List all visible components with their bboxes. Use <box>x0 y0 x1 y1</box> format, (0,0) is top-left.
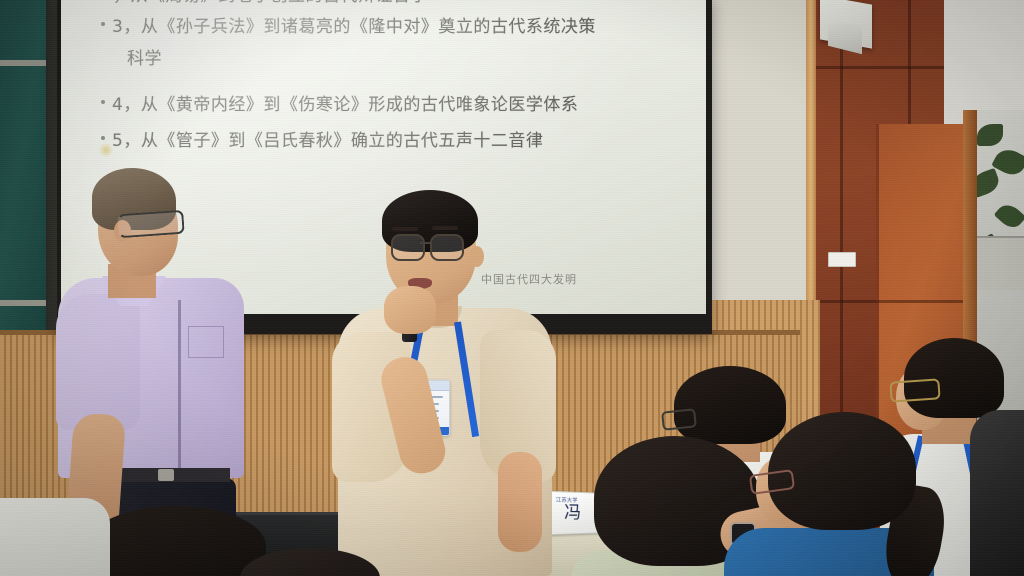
slide-bullet-5: 5，从《管子》到《吕氏春秋》确立的古代五声十二音律 <box>101 130 543 153</box>
bullet-dot-icon <box>101 22 105 26</box>
left-man-shirt-placket <box>178 300 181 470</box>
foreground-shoulder-body <box>0 498 110 576</box>
eyeglasses-icon <box>661 408 697 430</box>
audience-foreground-head-left <box>86 506 266 576</box>
speaker-eyebrow-left <box>392 227 418 231</box>
bullet-dot-icon <box>101 100 105 104</box>
speaker-ear <box>470 246 484 267</box>
door-rail-seam <box>876 300 968 303</box>
audience-foreground-shoulder <box>0 498 110 576</box>
left-man-sleeve <box>56 294 140 430</box>
audience-right-hair <box>904 338 1004 418</box>
foreground-head-hair <box>240 548 380 576</box>
slide-bullet-2-text: ，从《周易》到老子创立的古代辩证哲学 <box>113 0 428 6</box>
name-card-name: 冯 <box>564 505 581 523</box>
eyeglasses-icon <box>430 234 464 261</box>
lecture-hall-photo: ，从《周易》到老子创立的古代辩证哲学 3，从《孙子兵法》到诸葛亮的《隆中对》奠立… <box>0 0 1024 576</box>
bullet-dot-icon <box>101 136 105 140</box>
eyeglasses-icon <box>117 210 185 239</box>
chalk-rail-lower <box>0 300 46 306</box>
chalk-rail-upper <box>0 60 46 66</box>
slide-bullet-4: 4，从《黄帝内经》到《伤寒论》形成的古代唯象论医学体系 <box>101 94 578 117</box>
left-man-shirt-pocket <box>188 326 224 358</box>
green-chalkboard <box>0 0 46 352</box>
slide-bullet-3-wrap: 科学 <box>127 48 162 71</box>
left-man-belt-buckle <box>158 469 174 481</box>
slide-bullet-5-text: 5，从《管子》到《吕氏春秋》确立的古代五声十二音律 <box>112 131 543 151</box>
slide-bullet-3: 3，从《孙子兵法》到诸葛亮的《隆中对》奠立的古代系统决策 <box>101 16 596 39</box>
eyeglasses-icon <box>391 234 425 261</box>
slide-bullet-3-wrap-text: 科学 <box>127 49 162 69</box>
slide-bullet-4-text: 4，从《黄帝内经》到《伤寒论》形成的古代唯象论医学体系 <box>112 95 578 115</box>
speaker-forearm-right <box>498 452 542 552</box>
eyeglasses-bridge-icon <box>420 242 431 244</box>
foreground-silhouette-body <box>970 410 1024 576</box>
speaker-eyebrow-right <box>432 226 458 230</box>
audience-foreground-head-left-2 <box>240 548 380 576</box>
audience-foreground-silhouette <box>970 410 1024 576</box>
wall-switch-plate[interactable] <box>828 252 856 267</box>
screen-smudge <box>99 142 113 158</box>
chalkboard-frame <box>46 0 57 352</box>
presenter-center-speaker <box>330 190 560 576</box>
foreground-head-hair <box>86 506 266 576</box>
audience-member-blue-polo <box>740 412 940 576</box>
slide-bullet-2: ，从《周易》到老子创立的古代辩证哲学 <box>113 0 428 8</box>
eyeglasses-icon <box>889 378 940 402</box>
slide-bullet-3-text: 3，从《孙子兵法》到诸葛亮的《隆中对》奠立的古代系统决策 <box>112 17 596 37</box>
speaker-hand-holding-mic <box>384 286 436 334</box>
exterior-building <box>975 236 1024 290</box>
